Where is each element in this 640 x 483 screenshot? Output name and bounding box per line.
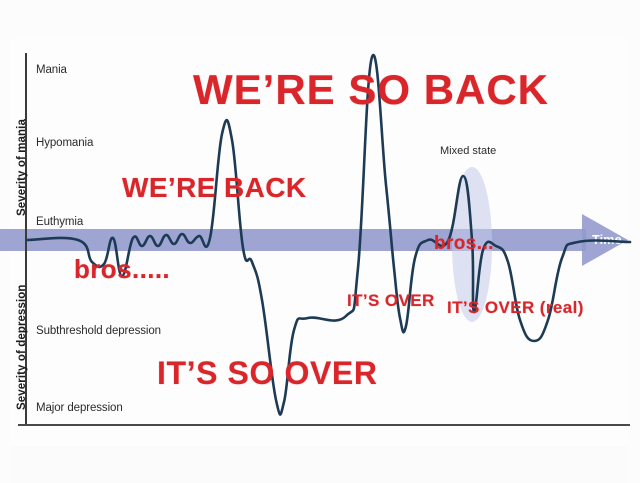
mood-chart: Time Mixed state Severity of mania Sever… [0,0,640,483]
caption-its-over-first: IT’S OVER [347,291,435,311]
caption-were-so-back: WE’RE SO BACK [193,66,549,114]
caption-its-so-over: IT’S SO OVER [157,355,378,392]
screenshot-root: Time Mixed state Severity of mania Sever… [0,0,640,483]
caption-bros-second: bros... [434,233,494,255]
caption-bros-first: bros..... [74,254,170,285]
caption-its-over-real: IT’S OVER (real) [447,298,584,318]
caption-were-back: WE’RE BACK [122,172,306,204]
